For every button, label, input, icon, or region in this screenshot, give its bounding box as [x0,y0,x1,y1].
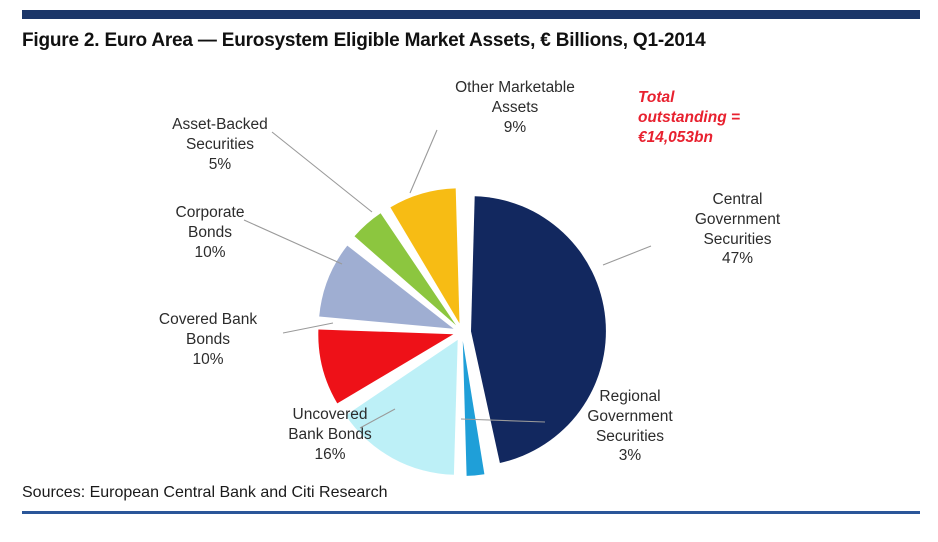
slice-label-corporate-bonds: Corporate Bonds 10% [135,203,285,262]
slice-label-covered-bank-bonds: Covered Bank Bonds 10% [128,310,288,369]
top-rule-divider [22,10,920,19]
slice-label-other-marketable-assets: Other Marketable Assets 9% [420,78,610,137]
slice-label-central-government-securities: Central Government Securities 47% [650,190,825,269]
bottom-rule-divider [22,511,920,514]
leader-line-other-marketable-assets [410,130,437,193]
leader-line-central-government-securities [603,246,651,265]
figure-title: Figure 2. Euro Area — Eurosystem Eligibl… [22,30,705,52]
slice-label-asset-backed-securities: Asset-Backed Securities 5% [140,115,300,174]
sources-note: Sources: European Central Bank and Citi … [22,484,388,502]
pie-chart: Central Government Securities 47% Region… [0,60,938,480]
slice-label-uncovered-bank-bonds: Uncovered Bank Bonds 16% [245,405,415,464]
figure-container: Figure 2. Euro Area — Eurosystem Eligibl… [0,0,938,542]
total-outstanding-note: Total outstanding = €14,053bn [638,88,828,148]
slice-label-regional-government-securities: Regional Government Securities 3% [545,387,715,466]
